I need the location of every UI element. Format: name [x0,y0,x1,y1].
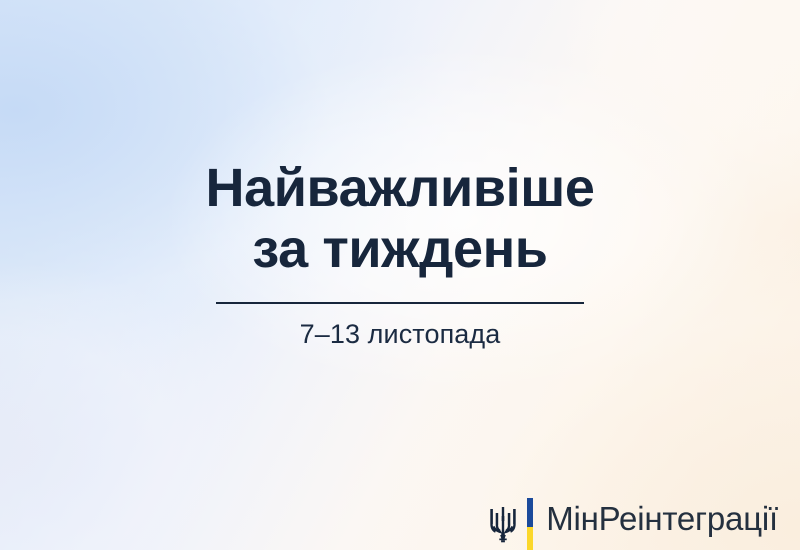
ministry-logo-lockup: МінРеінтеграції [488,492,778,550]
flag-bar-yellow-segment [527,527,533,550]
date-range-subtitle: 7–13 листопада [0,318,800,350]
ministry-name-label: МінРеінтеграції [546,500,778,538]
title-line-1: Найважливіше [0,158,800,219]
ukrainian-flag-bar [527,498,533,550]
ukrainian-trident-icon [488,504,518,544]
flag-bar-blue-segment [527,498,533,527]
title-divider-rule [216,302,584,304]
headline-block: Найважливіше за тиждень 7–13 листопада [0,158,800,350]
title-line-2: за тиждень [0,219,800,280]
title-card: Найважливіше за тиждень 7–13 листопада [0,0,800,550]
